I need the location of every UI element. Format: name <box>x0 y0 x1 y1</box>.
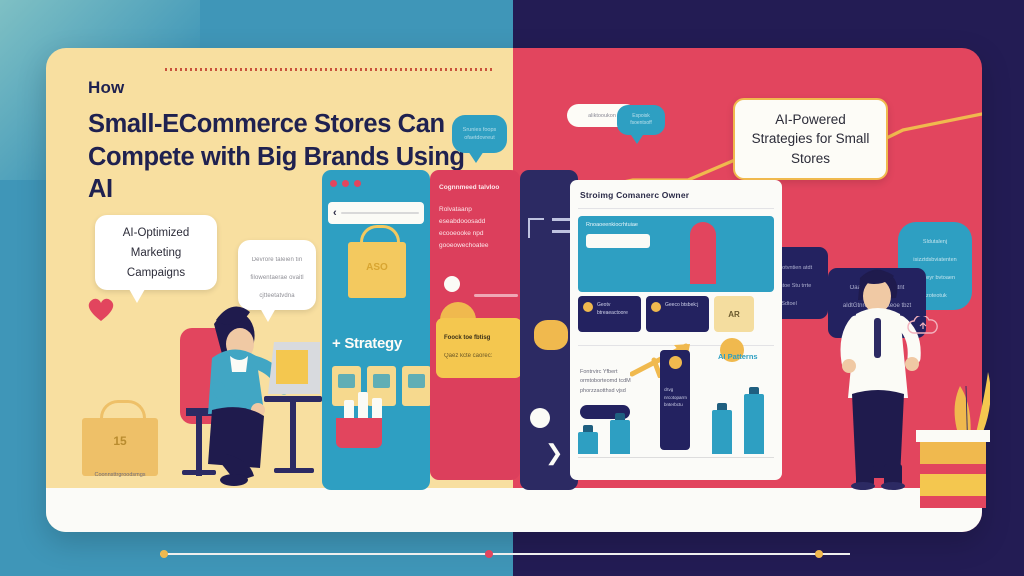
pagination-dot[interactable] <box>485 550 493 558</box>
pagination-dots <box>160 550 850 558</box>
pill-bubble-right-text: Espoisk fsoentsoff <box>627 113 655 128</box>
sticky-note: Foock toe fbtisg Qaez kcte caorec: <box>436 318 522 378</box>
pagination-dot[interactable] <box>160 550 168 558</box>
dashboard-metric-card[interactable]: Geotv btreaeactoore <box>578 296 641 332</box>
face-icon <box>530 408 550 428</box>
callout-ai-strategies: AI-Powered Strategies for Small Stores <box>733 98 888 180</box>
dashboard-body-text: Fontrvirc Yfbert ormtoborteomd tcdM phor… <box>580 368 650 396</box>
search-placeholder-line <box>341 212 419 214</box>
app-mock-teal-panel: ‹ ASO + Strategy <box>322 170 430 490</box>
dashboard-hero-card[interactable]: Rnoaoeenkiocrhtuiae <box>578 216 774 292</box>
chevron-left-icon: ‹ <box>333 207 337 219</box>
shopping-bag-caption: Coonnsttrgroodsmgs <box>78 472 162 478</box>
pill-bubble-left: Srunies foops ofaetdovreut <box>452 115 507 153</box>
dashboard-input-field[interactable] <box>586 234 650 248</box>
dashboard-title: Stroimg Comanerc Owner <box>580 190 689 200</box>
sticky-note-title: Foock toe fbtisg <box>444 335 490 341</box>
strategy-label: + Strategy <box>332 335 402 352</box>
product-bottle-chart <box>578 394 764 454</box>
headline-kicker: How <box>88 78 488 98</box>
sliders-icon <box>528 218 544 238</box>
shopping-basket-icon <box>336 418 382 448</box>
navy-column-dot-icon <box>669 356 682 369</box>
ar-badge: AR <box>714 296 754 332</box>
slider-track-icon <box>552 230 570 233</box>
pill-bubble-white-text: aliktooukon <box>588 113 616 119</box>
dashboard-card-1-label: Geotv btreaeactoore <box>597 302 641 317</box>
dashboard-card-2-label: Geeco btsbek:j <box>665 302 698 310</box>
product-card[interactable] <box>402 366 430 406</box>
card-footer-bar <box>46 488 982 532</box>
pagination-dot[interactable] <box>815 550 823 558</box>
avatar-illustration <box>690 222 716 284</box>
man-illustration <box>832 252 922 490</box>
bottle-bar <box>610 420 630 454</box>
ai-patterns-label: AI Patterns <box>718 352 758 361</box>
heart-icon <box>86 296 116 322</box>
pagination-track <box>160 553 850 555</box>
pill-bubble-left-text: Srunies foops ofaetdovreut <box>462 126 497 143</box>
shopping-bag-icon: 15 <box>82 418 158 476</box>
slider-track-icon <box>552 218 570 221</box>
cloud-icon <box>906 316 940 336</box>
metric-dot-icon <box>651 302 661 312</box>
brain-coin-icon <box>534 320 568 350</box>
sticky-note-body: Qaez kcte caorec: <box>444 353 492 359</box>
dashboard-hero-label: Rnoaoeenkiocrhtuiae <box>586 222 638 228</box>
dashboard-card-row: Geotv btreaeactoore Geeco btsbek:j AR <box>578 296 754 332</box>
red-panel-title: Cognnmeed talvIoo <box>439 184 499 191</box>
metric-dot-icon <box>583 302 593 312</box>
red-panel-body: Rolvataanp eseabdooosadd ecooeooke npd g… <box>439 204 505 252</box>
woman-at-laptop-illustration <box>168 258 328 486</box>
tote-bag-label: ASO <box>348 262 406 273</box>
bottle-bar <box>712 410 732 454</box>
clock-icon <box>444 276 460 292</box>
infographic-canvas: How Small-ECommerce Stores Can Compete w… <box>0 0 1024 576</box>
dashboard-panel: Stroimg Comanerc Owner Rnoaoeenkiocrhtui… <box>570 180 782 480</box>
bottle-bar <box>744 394 764 454</box>
dotted-divider <box>165 68 495 71</box>
headline-title-line-1: Small-ECommerce Stores Can <box>88 108 488 141</box>
callout-text: AI-Powered Strategies for Small Stores <box>743 110 878 167</box>
chevron-right-icon[interactable]: ❯ <box>545 440 563 466</box>
dashboard-metric-card[interactable]: Geeco btsbek:j <box>646 296 709 332</box>
bottle-bar <box>578 432 598 454</box>
pill-bubble-right: Espoisk fsoentsoff <box>617 105 665 135</box>
divider-line <box>474 294 518 297</box>
dashboard-divider <box>578 208 774 209</box>
shopping-bag-count: 15 <box>82 434 158 448</box>
dashboard-baseline <box>578 457 774 458</box>
window-dots-icon <box>330 180 361 187</box>
plant-pot <box>916 430 990 528</box>
tote-bag-icon: ASO <box>348 242 406 298</box>
mock-search-bar[interactable]: ‹ <box>328 202 424 224</box>
